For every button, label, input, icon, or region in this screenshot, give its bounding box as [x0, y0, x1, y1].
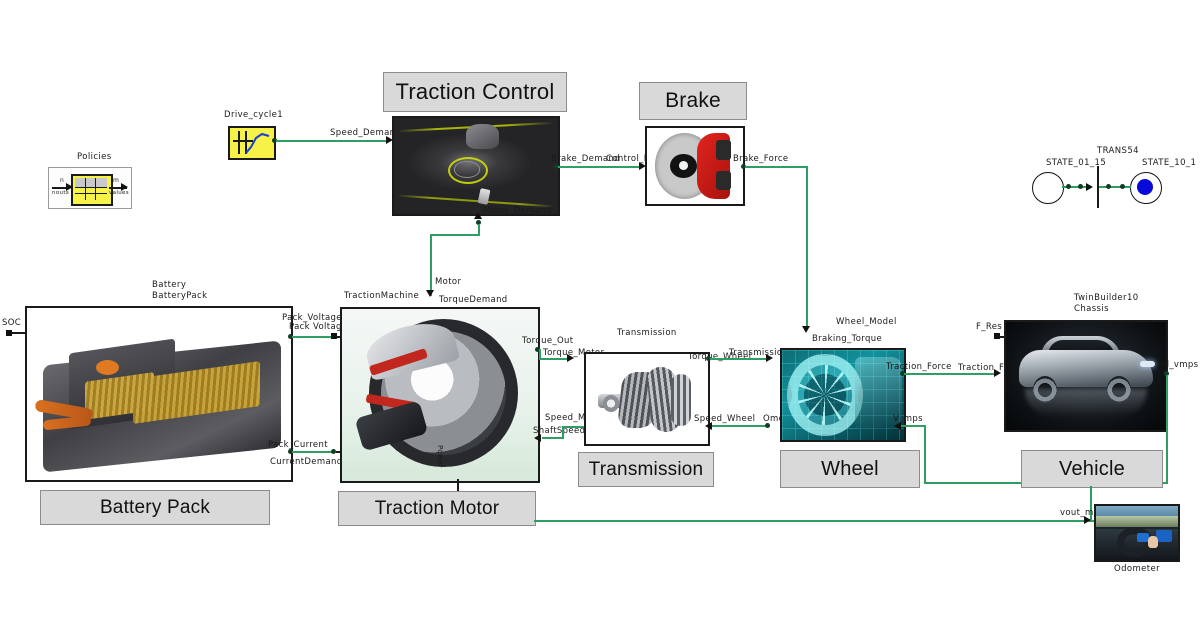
- state-machine-transition-label: TRANS54: [1097, 146, 1139, 156]
- state-wire-dot-2: [1078, 184, 1083, 189]
- torque-out-label: Torque_Out: [522, 336, 573, 346]
- wire-brake-force-h: [745, 166, 807, 168]
- state-transition-arrow: [1086, 183, 1093, 191]
- wire-vmps-h: [901, 425, 926, 427]
- caption-brake[interactable]: Brake: [639, 82, 747, 120]
- shaftspeed-arrow: [534, 434, 541, 442]
- braking-torque-arrow: [802, 326, 810, 333]
- policies-title: Policies: [77, 152, 112, 162]
- caption-traction-motor[interactable]: Traction Motor: [338, 491, 536, 526]
- power-label: Power: [436, 445, 444, 468]
- wire-vmps-v: [924, 425, 926, 483]
- traction-f-label: Traction_F: [958, 363, 1004, 373]
- wire-f-res: [999, 336, 1007, 338]
- torque-demand-arrow: [426, 290, 434, 297]
- center-console-image: [394, 118, 558, 214]
- policies-block[interactable]: n nouts m values: [48, 167, 132, 209]
- caption-vehicle[interactable]: Vehicle: [1021, 450, 1163, 488]
- wire-brake-force-v: [806, 166, 808, 326]
- state-wire-dot-3: [1106, 184, 1111, 189]
- wire-pack-voltage: [292, 336, 334, 338]
- torque-demand-label-text: TorqueDemand: [439, 295, 508, 305]
- motor-demand-arrow: [474, 212, 482, 219]
- vehicle-chassis-image: [1006, 322, 1166, 430]
- state-active-indicator: [1137, 179, 1153, 195]
- caption-traction-control[interactable]: Traction Control: [383, 72, 567, 112]
- brake-force-label: Brake_Force: [733, 154, 788, 164]
- wire-pack-current: [292, 451, 334, 453]
- wire-state-right: [1099, 186, 1131, 188]
- braking-torque-label: Braking_Torque: [812, 334, 882, 344]
- battery-title-2: BatteryPack: [152, 291, 207, 302]
- wire-power: [457, 479, 459, 491]
- wire-speed-demand: [276, 140, 388, 142]
- vehicle-title-2: Chassis: [1074, 304, 1109, 315]
- wire-brake-demand: [558, 166, 642, 168]
- caption-battery-pack[interactable]: Battery Pack: [40, 490, 270, 525]
- state-right-label: STATE_10_1: [1142, 158, 1196, 168]
- odometer-block[interactable]: [1094, 504, 1180, 562]
- transmission-title: Transmission: [617, 328, 677, 338]
- wire-motor-demand-v2: [430, 234, 432, 296]
- wire-transmission-torque: [710, 358, 768, 360]
- brake-disc-image: [647, 128, 743, 204]
- wheel-title: Wheel_Model: [836, 317, 897, 327]
- wire-traction-force: [904, 373, 996, 375]
- caption-wheel[interactable]: Wheel: [780, 450, 920, 488]
- traction-control-block[interactable]: [392, 116, 560, 216]
- drive-cycle-axis-y: [238, 131, 240, 154]
- transmission-gears-image: [586, 354, 708, 444]
- wire-omega: [712, 425, 770, 427]
- speed-wheel-label: Speed_Wheel: [694, 414, 755, 424]
- speed-demand-label: Speed_Demand: [330, 128, 401, 138]
- policies-in-bottom-label: nouts: [52, 190, 69, 196]
- soc-label: SOC: [2, 318, 21, 328]
- vehicle-block[interactable]: [1004, 320, 1168, 432]
- traction-machine-title: TractionMachine: [344, 291, 419, 301]
- vout-mps-arrow: [1084, 516, 1091, 524]
- wire-vehicle-speed-v: [1166, 375, 1168, 483]
- motor-demand-label: Motor_Demand: [483, 206, 552, 216]
- wire-torque-out-h: [539, 358, 569, 360]
- wire-speed-motor-h: [542, 437, 564, 439]
- caption-transmission[interactable]: Transmission: [578, 452, 714, 487]
- current-demand-label: CurrentDemand: [270, 457, 343, 467]
- transmission-block[interactable]: [584, 352, 710, 446]
- pack-current-label: Pack_Current: [268, 440, 328, 450]
- drive-cycle-title: Drive_cycle1: [224, 110, 283, 120]
- v-mps-arrow: [894, 422, 901, 430]
- odometer-title: Odometer: [1114, 564, 1160, 574]
- vehicle-speed-label: ed_vmps: [1158, 360, 1198, 370]
- motor-label: Motor: [435, 277, 461, 287]
- traction-force-label: Traction_Force: [886, 362, 952, 372]
- wire-speed-motor-h2: [562, 426, 586, 428]
- state-wire-dot-1: [1066, 184, 1071, 189]
- policies-out-bottom-label: values: [109, 190, 129, 196]
- wire-soc: [12, 332, 26, 334]
- state-node-left[interactable]: [1032, 172, 1064, 204]
- pack-voltage-in-label: Pack Voltage: [289, 322, 347, 332]
- powertrain-diagram-canvas: Policies n nouts m values Drive_cycle1 S…: [0, 0, 1200, 628]
- battery-title-1: Battery: [152, 280, 186, 291]
- policies-out-top-label: m: [113, 177, 119, 184]
- vehicle-title-1: TwinBuilder10: [1074, 293, 1139, 304]
- drive-cycle-curve-icon: [245, 131, 273, 155]
- speed-wheel-arrow: [705, 422, 712, 430]
- brake-block[interactable]: [645, 126, 745, 206]
- odometer-image: [1096, 506, 1178, 560]
- policies-table-icon: [71, 174, 113, 206]
- drive-cycle-block[interactable]: [228, 126, 276, 160]
- battery-pack-image: [27, 308, 291, 480]
- battery-pack-block[interactable]: [25, 306, 293, 482]
- f-res-label: F_Res: [976, 322, 1002, 332]
- wire-motor-demand-h: [430, 234, 480, 236]
- wire-bottom-feedback: [534, 520, 1094, 522]
- state-wire-dot-4: [1120, 184, 1125, 189]
- policies-in-top-label: n: [60, 177, 64, 184]
